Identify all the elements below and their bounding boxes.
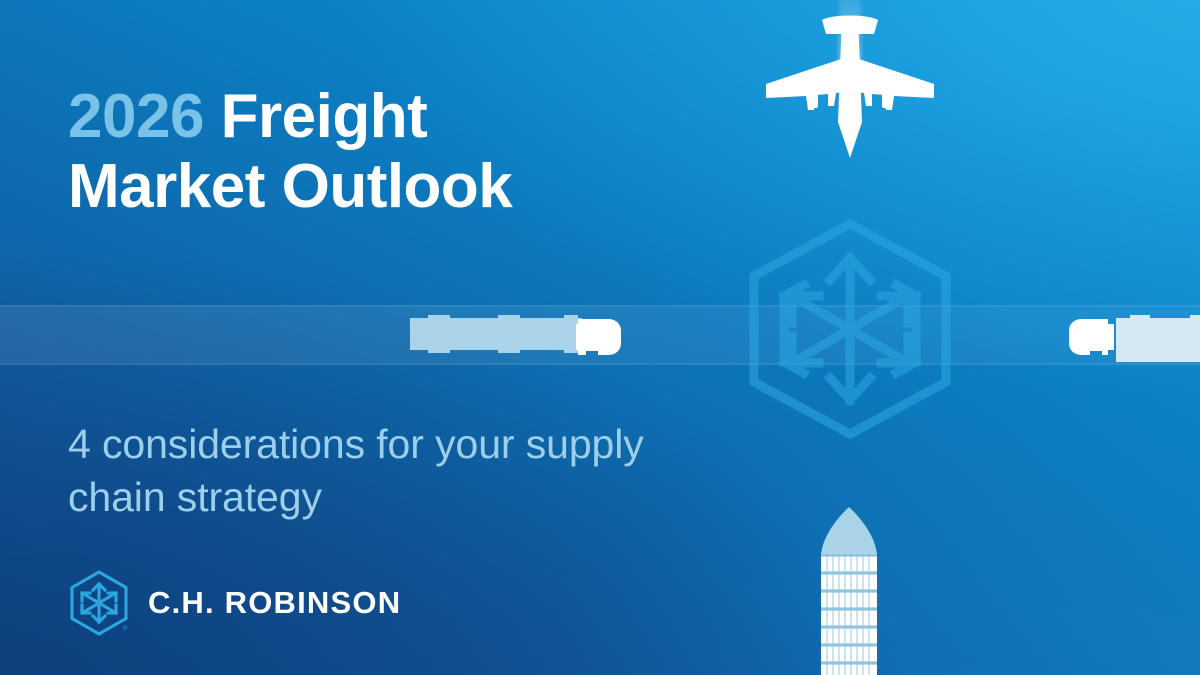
page-title: 2026 FreightMarket Outlook xyxy=(68,82,512,222)
hexagon-arrows-watermark-icon xyxy=(742,218,958,440)
semi-truck-right-icon xyxy=(1064,312,1200,362)
registered-mark: ® xyxy=(123,625,128,632)
headline-year: 2026 xyxy=(68,82,204,151)
text-content: 2026 FreightMarket Outlook 4 considerati… xyxy=(68,0,708,675)
airplane-icon xyxy=(762,0,938,164)
container-ship-icon xyxy=(818,505,880,675)
page-subtitle: 4 considerations for your supply chain s… xyxy=(68,418,648,525)
ch-robinson-logo-icon: ® xyxy=(68,570,130,636)
brand-lockup: ® C.H. ROBINSON xyxy=(68,570,401,636)
headline-line2: Market Outlook xyxy=(68,152,512,221)
headline-rest: Freight xyxy=(204,82,427,151)
brand-name: C.H. ROBINSON xyxy=(148,585,401,621)
hero-banner: 2026 FreightMarket Outlook 4 considerati… xyxy=(0,0,1200,675)
